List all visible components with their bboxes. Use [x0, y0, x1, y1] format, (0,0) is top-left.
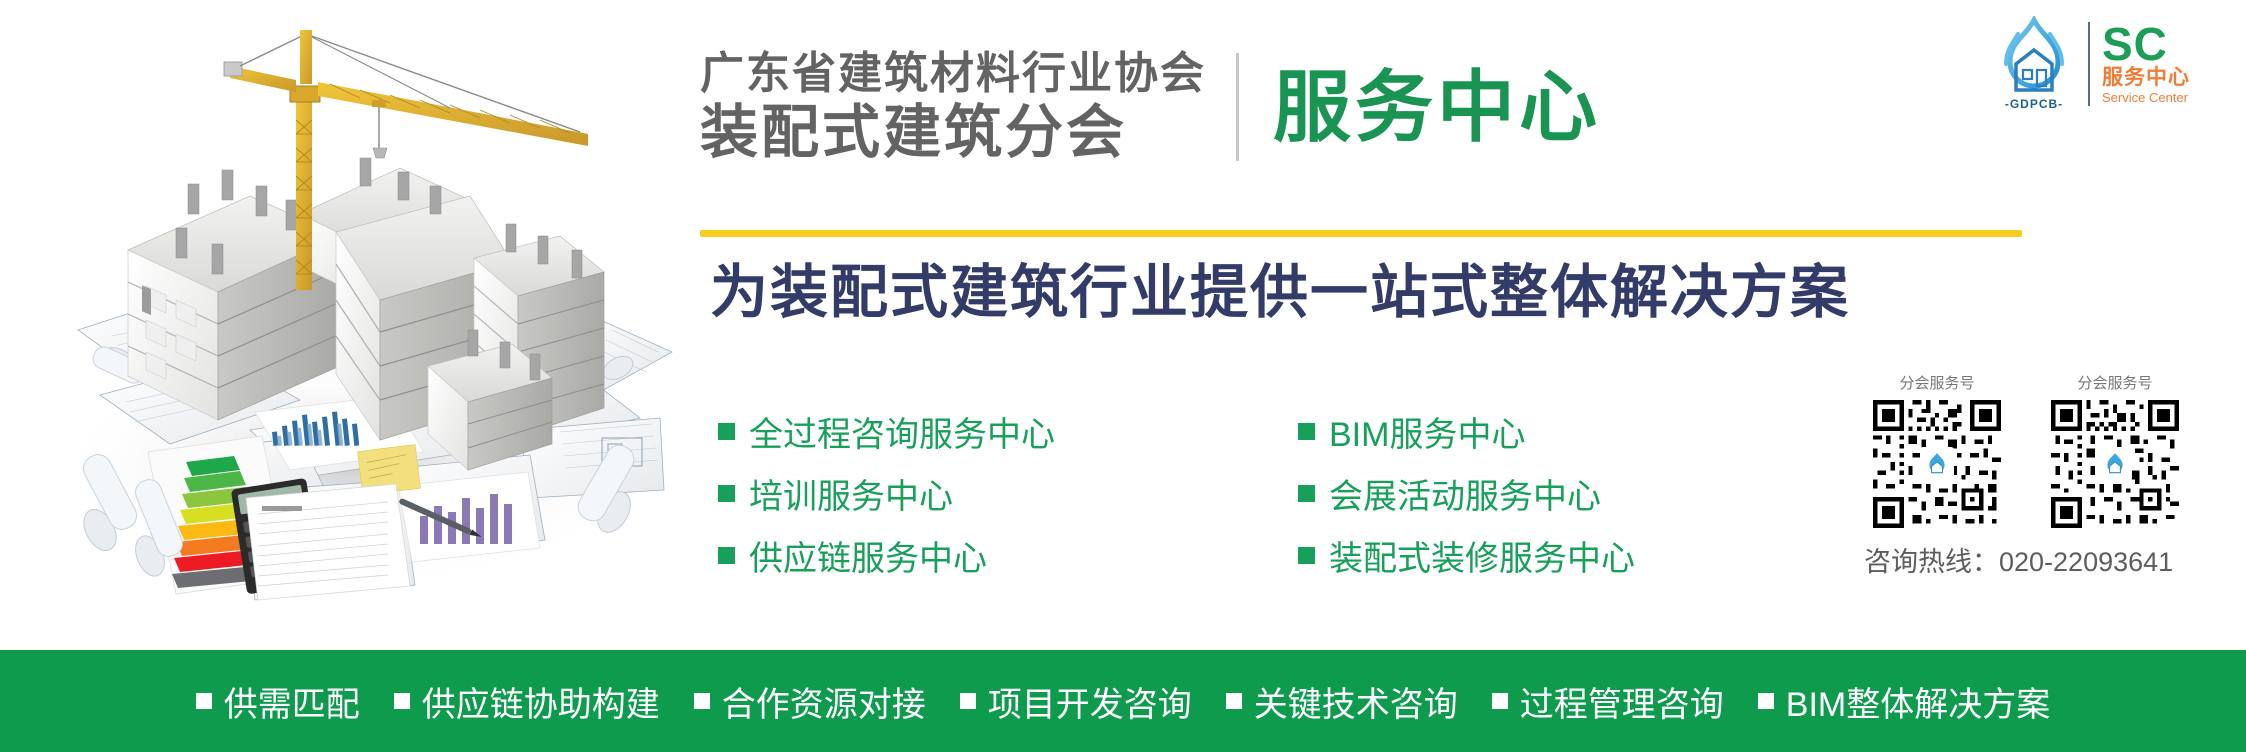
header-title-block: 广东省建筑材料行业协会 装配式建筑分会 服务中心 [700, 42, 2030, 172]
service-center-heading: 服务中心 [1273, 64, 1601, 150]
list-item-label: BIM整体解决方案 [1786, 677, 2050, 726]
square-bullet-icon [1492, 693, 1508, 709]
square-bullet-icon [694, 693, 710, 709]
qr-cell-1: 分会服务号 [1862, 372, 2012, 528]
list-item-label: 全过程咨询服务中心 [749, 407, 1055, 456]
svg-text:-GDPCB-: -GDPCB- [2005, 97, 2063, 111]
qr-caption: 分会服务号 [2077, 372, 2152, 393]
list-item[interactable]: 关键技术咨询 [1226, 677, 1458, 726]
list-item-label: 过程管理咨询 [1520, 677, 1724, 726]
qr-center-logo-2 [2098, 447, 2132, 481]
square-bullet-icon [1226, 693, 1242, 709]
bottom-services-bar: 供需匹配 供应链协助构建 合作资源对接 项目开发咨询 关键技术咨询 过程管理咨询… [0, 650, 2246, 752]
list-item-label: 供需匹配 [224, 677, 360, 726]
list-item[interactable]: BIM服务中心 [1298, 407, 1838, 456]
brand-logo[interactable]: -GDPCB- SC 服务中心 Service Center [1988, 14, 2236, 114]
hotline-text: 咨询热线：020-22093641 [1862, 540, 2222, 579]
square-bullet-icon [960, 693, 976, 709]
list-item-label: 合作资源对接 [722, 677, 926, 726]
list-item-label: 会展活动服务中心 [1329, 469, 1601, 518]
square-bullet-icon [1298, 485, 1315, 502]
sc-service-center-mark: SC 服务中心 Service Center [2102, 22, 2190, 106]
list-item-label: 关键技术咨询 [1254, 677, 1458, 726]
gold-horizontal-rule [700, 230, 2022, 237]
qr-caption: 分会服务号 [1899, 372, 1974, 393]
association-names: 广东省建筑材料行业协会 装配式建筑分会 [700, 48, 1206, 166]
list-item[interactable]: BIM整体解决方案 [1758, 677, 2050, 726]
list-item[interactable]: 装配式装修服务中心 [1298, 531, 1838, 580]
list-item[interactable]: 会展活动服务中心 [1298, 469, 1838, 518]
qr-code-image-1[interactable] [1873, 400, 2001, 528]
qr-cell-2: 分会服务号 [2040, 372, 2190, 528]
logo-vertical-divider [2088, 22, 2090, 106]
qr-contact-block: 分会服务号 [1862, 372, 2222, 579]
list-item[interactable]: 项目开发咨询 [960, 677, 1192, 726]
banner-root: 广东省建筑材料行业协会 装配式建筑分会 服务中心 为装配式建筑行业提供一站式整体… [0, 0, 2246, 752]
list-item[interactable]: 全过程咨询服务中心 [718, 407, 1298, 456]
list-item[interactable]: 供应链服务中心 [718, 531, 1298, 580]
construction-illustration [0, 0, 690, 650]
square-bullet-icon [718, 485, 735, 502]
list-item-label: 项目开发咨询 [988, 677, 1192, 726]
qr-center-logo-1 [1920, 447, 1954, 481]
gdpcb-flame-house-icon: -GDPCB- [1988, 16, 2080, 112]
list-item-label: 供应链服务中心 [749, 531, 987, 580]
list-item[interactable]: 供需匹配 [196, 677, 360, 726]
service-center-list: 全过程咨询服务中心 BIM服务中心 培训服务中心 会展活动服务中心 供应链服务中… [718, 400, 1838, 586]
square-bullet-icon [1298, 547, 1315, 564]
square-bullet-icon [718, 423, 735, 440]
square-bullet-icon [394, 693, 410, 709]
main-tagline: 为装配式建筑行业提供一站式整体解决方案 [710, 256, 1850, 330]
square-bullet-icon [1758, 693, 1774, 709]
sc-english-label: Service Center [2102, 90, 2190, 106]
list-item[interactable]: 培训服务中心 [718, 469, 1298, 518]
list-item[interactable]: 过程管理咨询 [1492, 677, 1724, 726]
qr-code-image-2[interactable] [2051, 400, 2179, 528]
list-item-label: 供应链协助构建 [422, 677, 660, 726]
list-item-label: 培训服务中心 [749, 469, 953, 518]
qr-row: 分会服务号 [1862, 372, 2222, 528]
association-branch-line2: 装配式建筑分会 [700, 100, 1206, 166]
list-item-label: BIM服务中心 [1329, 407, 1525, 456]
header-vertical-divider [1236, 53, 1239, 161]
square-bullet-icon [196, 693, 212, 709]
association-name-line1: 广东省建筑材料行业协会 [700, 48, 1206, 100]
square-bullet-icon [1298, 423, 1315, 440]
sc-chinese-label: 服务中心 [2102, 66, 2190, 90]
sc-letters: SC [2102, 22, 2190, 66]
list-item[interactable]: 供应链协助构建 [394, 677, 660, 726]
square-bullet-icon [718, 547, 735, 564]
list-item[interactable]: 合作资源对接 [694, 677, 926, 726]
list-item-label: 装配式装修服务中心 [1329, 531, 1635, 580]
